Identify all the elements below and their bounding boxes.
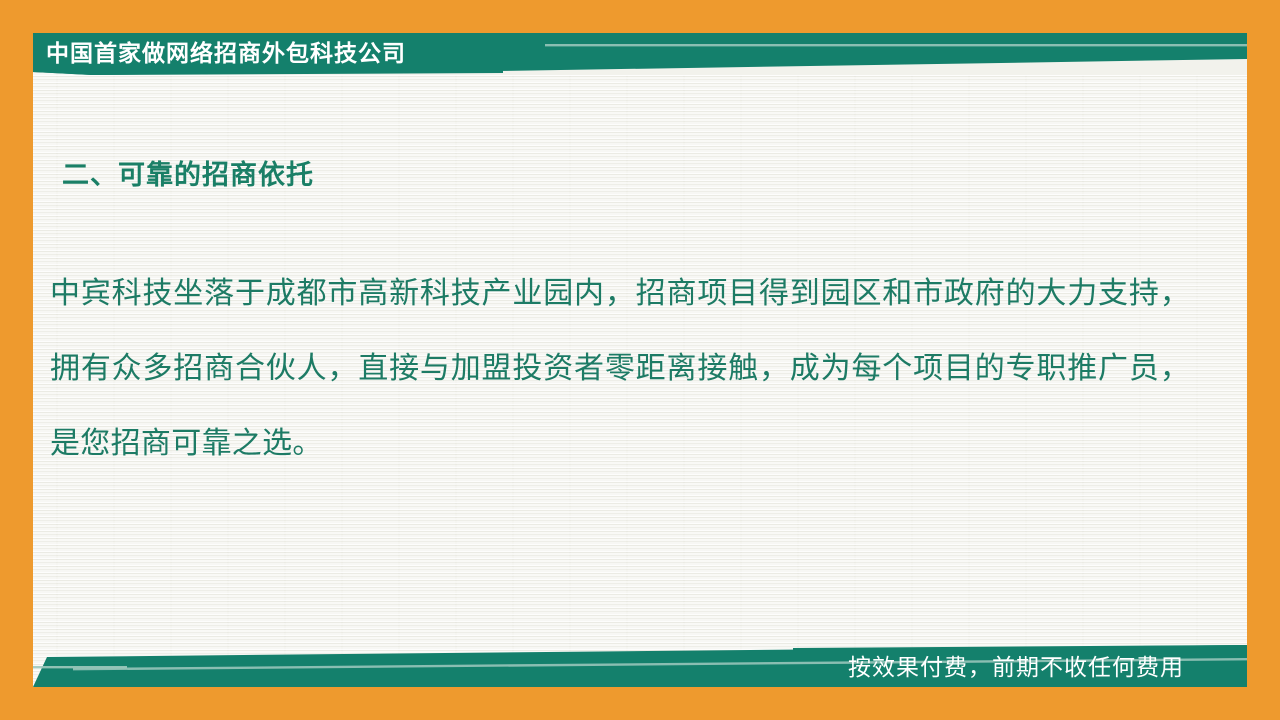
- page-title: 二、可靠的招商依托: [62, 155, 314, 195]
- slide: 中国首家做网络招商外包科技公司 二、可靠的招商依托 中宾科技坐落于成都市高新科技…: [0, 0, 1280, 720]
- footer-tagline: 按效果付费，前期不收任何费用: [848, 650, 1184, 684]
- body-paragraph: 中宾科技坐落于成都市高新科技产业园内，招商项目得到园区和市政府的大力支持，拥有众…: [50, 256, 1190, 481]
- header-title: 中国首家做网络招商外包科技公司: [46, 36, 406, 70]
